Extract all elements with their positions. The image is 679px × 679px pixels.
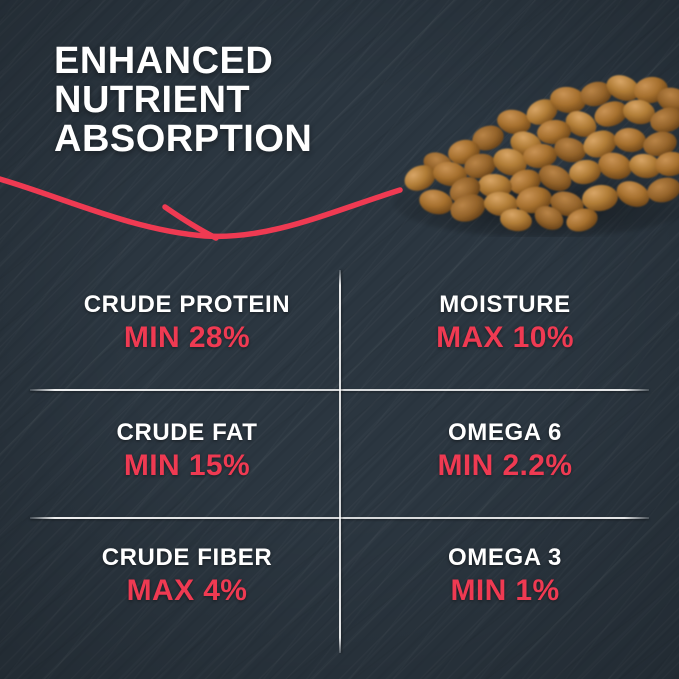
curved-arrow-icon bbox=[0, 150, 430, 270]
spec-label: CRUDE PROTEIN bbox=[27, 290, 347, 320]
page-title-line-3: ABSORPTION bbox=[54, 120, 312, 159]
spec-value: MIN 1% bbox=[345, 573, 665, 609]
spec-value: MIN 15% bbox=[27, 448, 347, 484]
page-title-line-1: ENHANCED bbox=[54, 42, 312, 81]
spec-cell-moisture: MOISTURE MAX 10% bbox=[345, 290, 665, 356]
spec-label: CRUDE FAT bbox=[27, 418, 347, 448]
spec-cell-crude-fat: CRUDE FAT MIN 15% bbox=[27, 418, 347, 484]
page-title: ENHANCED NUTRIENT ABSORPTION bbox=[54, 42, 312, 159]
spec-value: MAX 4% bbox=[27, 573, 347, 609]
spec-cell-omega-3: OMEGA 3 MIN 1% bbox=[345, 543, 665, 609]
spec-label: CRUDE FIBER bbox=[27, 543, 347, 573]
page-title-line-2: NUTRIENT bbox=[54, 81, 312, 120]
spec-cell-omega-6: OMEGA 6 MIN 2.2% bbox=[345, 418, 665, 484]
spec-value: MAX 10% bbox=[345, 320, 665, 356]
spec-value: MIN 28% bbox=[27, 320, 347, 356]
guaranteed-analysis-grid: CRUDE PROTEIN MIN 28% MOISTURE MAX 10% C… bbox=[0, 262, 679, 662]
spec-value: MIN 2.2% bbox=[345, 448, 665, 484]
spec-cell-crude-protein: CRUDE PROTEIN MIN 28% bbox=[27, 290, 347, 356]
spec-label: OMEGA 3 bbox=[345, 543, 665, 573]
spec-label: OMEGA 6 bbox=[345, 418, 665, 448]
nutrition-infographic: CRUDE PROTEIN MIN 28% MOISTURE MAX 10% C… bbox=[0, 0, 679, 679]
spec-cell-crude-fiber: CRUDE FIBER MAX 4% bbox=[27, 543, 347, 609]
spec-label: MOISTURE bbox=[345, 290, 665, 320]
